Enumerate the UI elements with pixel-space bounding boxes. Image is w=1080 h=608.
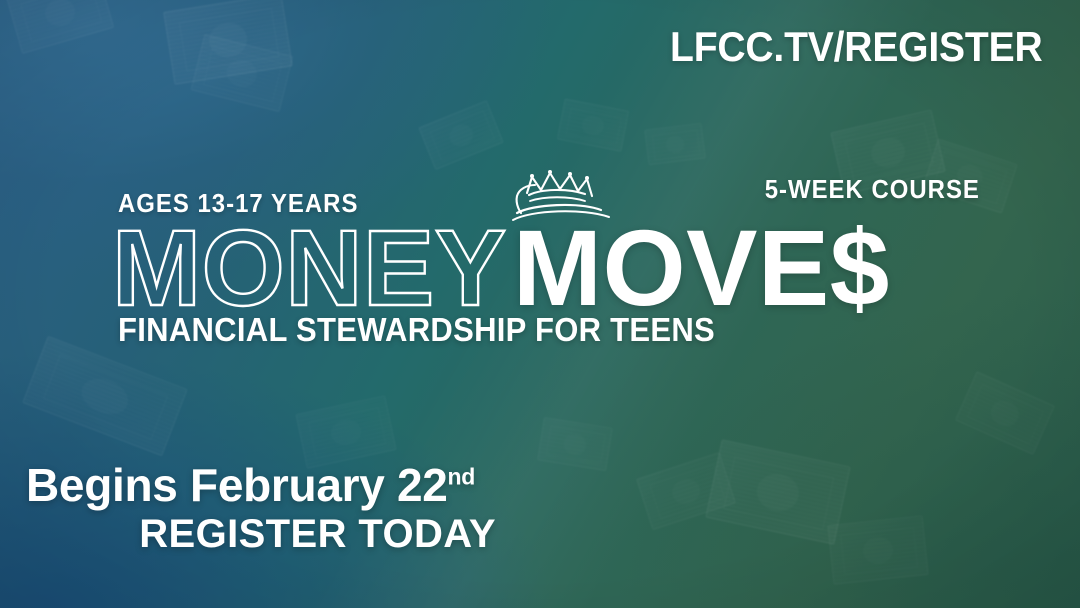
start-date: Begins February 22nd bbox=[26, 462, 496, 510]
wordmark-moves: MOVE$ bbox=[512, 214, 889, 322]
promo-poster: LFCC.TV/REGISTER AGES 13-17 YEARS 5-WEEK… bbox=[0, 0, 1080, 608]
start-date-text: Begins February 22 bbox=[26, 459, 448, 511]
footer-block: Begins February 22nd REGISTER TODAY bbox=[26, 462, 496, 556]
subtitle: FINANCIAL STEWARDSHIP FOR TEENS bbox=[118, 313, 715, 346]
crown-icon bbox=[505, 163, 623, 225]
poster-content: LFCC.TV/REGISTER AGES 13-17 YEARS 5-WEEK… bbox=[0, 0, 1080, 608]
register-url[interactable]: LFCC.TV/REGISTER bbox=[670, 26, 1042, 68]
start-date-ordinal: nd bbox=[448, 463, 476, 489]
cta-register-today[interactable]: REGISTER TODAY bbox=[26, 514, 496, 556]
wordmark-money: MONEY bbox=[112, 214, 509, 322]
course-length-label: 5-WEEK COURSE bbox=[765, 176, 980, 202]
wordmark: MONEY MOVE$ bbox=[110, 214, 891, 322]
